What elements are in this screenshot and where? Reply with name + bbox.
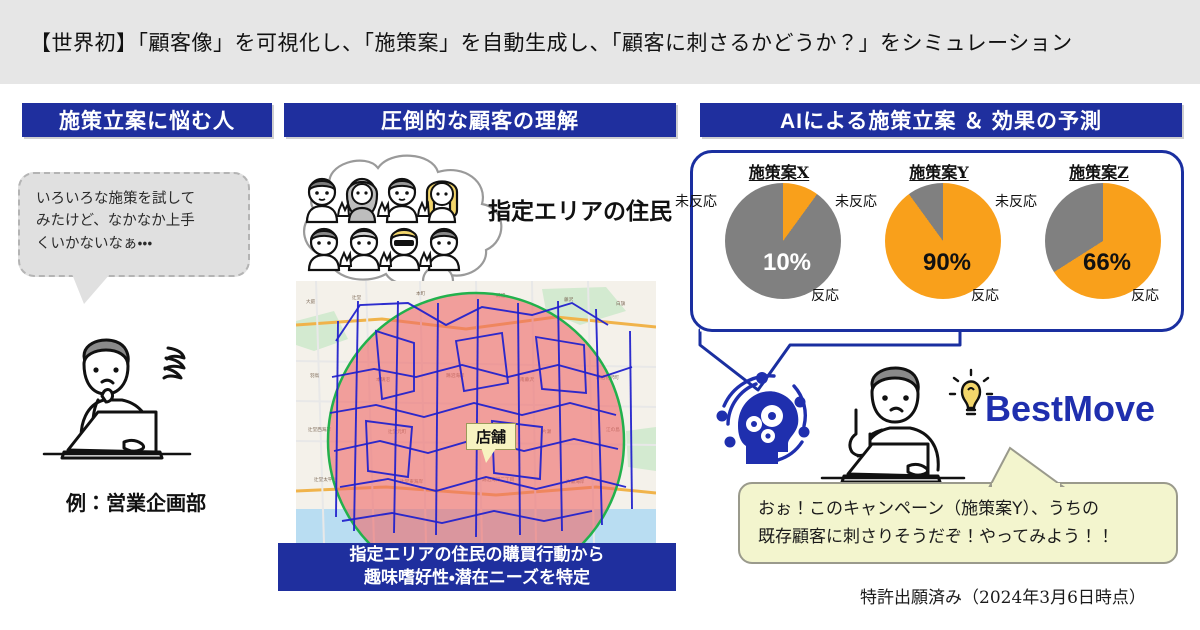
customer-reaction-speech-bubble: おぉ！このキャンペーン（施策案Y）、うちの 既存顧客に刺さりそうだぞ！やってみよ… (738, 482, 1178, 564)
pie-label-unresponsive: 未反応 (995, 191, 1037, 211)
poster-root: 【世界初】「顧客像」を可視化し、「施策案」を自動生成し、「顧客に刺さるかどうか？… (0, 0, 1200, 630)
store-marker-tail (481, 447, 497, 463)
pie-label-responsive: 反応 (971, 285, 999, 305)
pie-title: 施策案X (699, 159, 859, 183)
speech-line: おぉ！このキャンペーン（施策案Y）、うちの (758, 496, 1158, 524)
patent-note: 特許出願済み（2024年3月6日時点） (860, 583, 1146, 608)
pie-chart-z[interactable]: 施策案Z 66% 未反応 反応 (1019, 153, 1179, 335)
header-band: 【世界初】「顧客像」を可視化し、「施策案」を自動生成し、「顧客に刺さるかどうか？… (0, 0, 1200, 84)
pie-chart-x[interactable]: 施策案X 10% 未反応 反応 (699, 153, 859, 335)
pies-callout-tail (700, 329, 960, 390)
svg-text:白旗: 白旗 (616, 300, 626, 307)
pain-point-speech-bubble: いろいろな施策を試して みたけど、なかなか上手 くいかないなぁ・・・ (18, 172, 250, 277)
svg-text:辻堂: 辻堂 (352, 294, 362, 301)
policy-simulation-panel: 施策案X 10% 未反応 反応 施策案Y 90% 未反応 反応 施策案Z 66%… (690, 150, 1184, 332)
map-caption-line: 趣味嗜好性・潜在ニーズを特定 (364, 567, 590, 590)
svg-text:藤沢: 藤沢 (564, 296, 574, 303)
pie-label-unresponsive: 未反応 (835, 191, 877, 211)
person-thinking-laptop-icon (44, 340, 190, 458)
left-caption: 例：営業企画部 (18, 487, 254, 516)
map-caption-line: 指定エリアの住民の購買行動から (350, 544, 605, 567)
speech-line: いろいろな施策を試して (36, 188, 232, 210)
pie-label-responsive: 反応 (1131, 285, 1159, 305)
reaction-bubble-tail (990, 448, 1062, 486)
section-title-middle: 圧倒的な顧客の理解 (284, 103, 676, 137)
residents-people-icon (307, 179, 459, 270)
pie-label-unresponsive: 未反応 (675, 191, 717, 211)
svg-text:羽鳥: 羽鳥 (310, 372, 320, 379)
pie-disc (725, 183, 841, 299)
pie-title: 施策案Z (1019, 159, 1179, 183)
svg-text:本町: 本町 (416, 290, 426, 297)
speech-line: くいかないなぁ・・・ (36, 233, 232, 255)
area-map[interactable]: 大庭辻堂本町 鵠沼藤沢白旗 羽鳥本鵠沼鵠沼海岸 南藤沢鵠沼花沢町 辻堂西海岸辻堂… (296, 281, 656, 543)
speech-line: みたけど、なかなか上手 (36, 210, 232, 232)
pie-value: 10% (729, 249, 845, 277)
speech-line: 既存顧客に刺さりそうだぞ！やってみよう！！ (758, 524, 1158, 552)
pie-disc (885, 183, 1001, 299)
store-marker-label[interactable]: 店舗 (466, 423, 516, 450)
pie-label-responsive: 反応 (811, 285, 839, 305)
residents-label: 指定エリアの住民 (488, 192, 672, 226)
svg-text:大庭: 大庭 (306, 298, 316, 305)
section-title-left: 施策立案に悩む人 (22, 103, 272, 137)
speech-bubble-tail (72, 274, 110, 304)
pie-title: 施策案Y (859, 159, 1019, 183)
pie-value: 66% (1049, 249, 1165, 277)
map-caption: 指定エリアの住民の購買行動から 趣味嗜好性・潜在ニーズを特定 (278, 543, 676, 591)
thought-cloud-icon (304, 156, 501, 285)
product-brand-logo: BestMove (985, 388, 1155, 430)
pie-value: 90% (889, 249, 1005, 277)
ai-brain-gears-icon (717, 372, 810, 464)
pie-chart-y[interactable]: 施策案Y 90% 未反応 反応 (859, 153, 1019, 335)
person-idea-laptop-icon (822, 368, 964, 482)
page-title: 【世界初】「顧客像」を可視化し、「施策案」を自動生成し、「顧客に刺さるかどうか？… (0, 27, 1073, 57)
section-title-right: AIによる施策立案 ＆ 効果の予測 (700, 103, 1182, 137)
area-map-icon: 大庭辻堂本町 鵠沼藤沢白旗 羽鳥本鵠沼鵠沼海岸 南藤沢鵠沼花沢町 辻堂西海岸辻堂… (296, 281, 656, 543)
pie-disc (1045, 183, 1161, 299)
